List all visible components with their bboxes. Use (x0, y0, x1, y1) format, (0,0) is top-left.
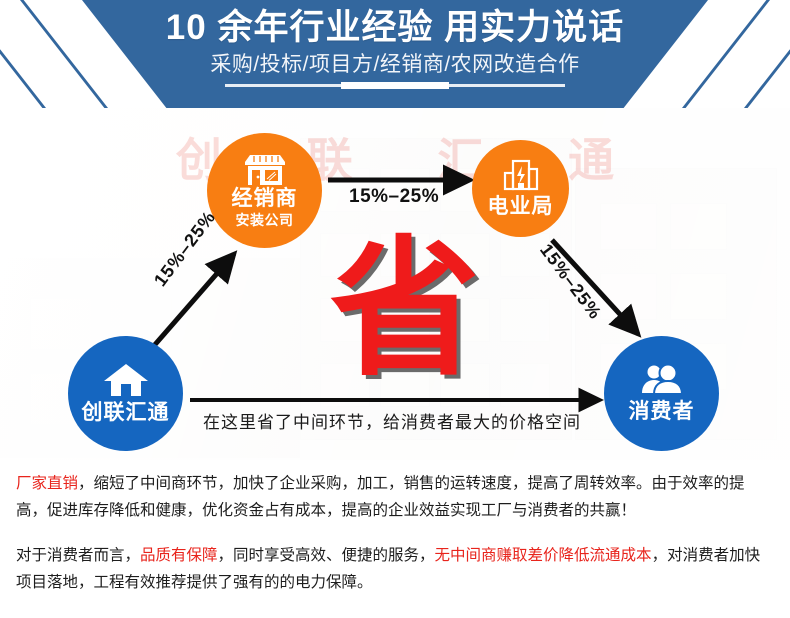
bottom-text-block: 厂家直销，缩短了中间商环节，加快了企业采购，加工，销售的运转速度，提高了周转效率… (0, 462, 790, 618)
header-banner: 10 余年行业经验 用实力说话 采购/投标/项目方/经销商/农网改造合作 (0, 0, 790, 108)
header-divider (225, 84, 565, 87)
paragraph-two-part-a: 对于消费者而言， (16, 547, 140, 564)
diagram-stage: 创 联 汇 通 省 15%–25% 15%–25% 15%–25% 在这里省了中… (0, 108, 790, 460)
paragraph-one: 厂家直销，缩短了中间商环节，加快了企业采购，加工，销售的运转速度，提高了周转效率… (16, 470, 774, 524)
users-icon (639, 363, 685, 397)
node-dealer-title: 经销商 (232, 187, 298, 211)
paragraph-two-part-b: ，同时享受高效、便捷的服务， (218, 547, 435, 564)
node-power-bureau-title: 电业局 (488, 195, 554, 219)
paragraph-one-highlight: 厂家直销 (16, 475, 78, 492)
label-dealer-to-power: 15%–25% (349, 186, 439, 208)
node-chuanlian-title: 创联汇通 (82, 401, 170, 425)
paragraph-two-highlight-2: 无中间商赚取差价降低流通成本 (435, 547, 652, 564)
paragraph-two: 对于消费者而言，品质有保障，同时享受高效、便捷的服务，无中间商赚取差价降低流通成… (16, 542, 774, 596)
node-consumer-title: 消费者 (629, 400, 695, 424)
node-chuanlian-huitong[interactable]: 创联汇通 (68, 336, 183, 451)
marketing-infographic: 10 余年行业经验 用实力说话 采购/投标/项目方/经销商/农网改造合作 (0, 0, 790, 618)
paragraph-one-body: ，缩短了中间商环节，加快了企业采购，加工，销售的运转速度，提高了周转效率。由于效… (16, 475, 745, 519)
label-direct-channel: 在这里省了中间环节，给消费者最大的价格空间 (203, 408, 581, 433)
header-content: 10 余年行业经验 用实力说话 采购/投标/项目方/经销商/农网改造合作 (0, 0, 790, 108)
shop-icon (242, 153, 288, 187)
home-icon (103, 362, 149, 398)
node-dealer-subtitle: 安装公司 (236, 212, 294, 229)
node-power-bureau[interactable]: 电业局 (472, 140, 569, 237)
paragraph-two-highlight-1: 品质有保障 (140, 547, 218, 564)
node-dealer[interactable]: 经销商 安装公司 (207, 133, 322, 248)
node-consumer[interactable]: 消费者 (604, 336, 719, 451)
power-plant-icon (501, 159, 541, 193)
header-title: 10 余年行业经验 用实力说话 (166, 6, 624, 50)
header-subtitle: 采购/投标/项目方/经销商/农网改造合作 (210, 51, 579, 79)
